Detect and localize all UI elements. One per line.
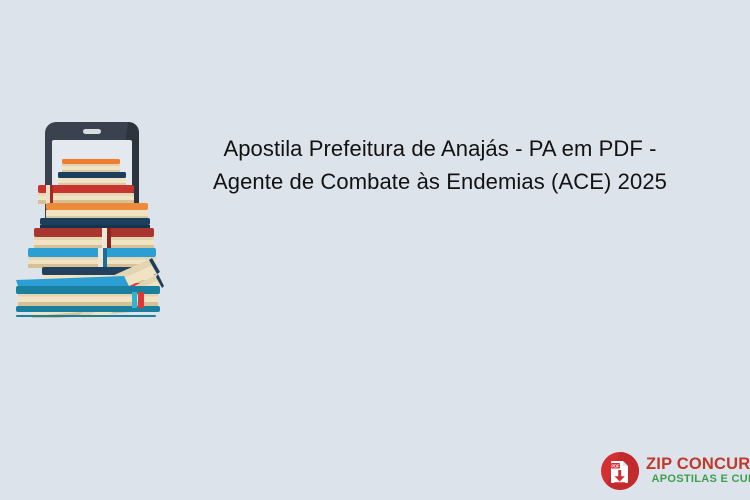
bottom-base-books — [12, 258, 172, 318]
book-navy-2 — [58, 172, 126, 186]
page-title: Apostila Prefeitura de Anajás - PA em PD… — [182, 132, 698, 198]
brand-name: ZIP CONCURSOS — [646, 456, 750, 473]
book-orange-top — [62, 159, 120, 173]
book-darkred-6 — [34, 228, 154, 249]
promo-card: Apostila Prefeitura de Anajás - PA em PD… — [0, 0, 750, 500]
pdf-download-glyph: PDF — [601, 452, 639, 490]
brand-text-block: ZIP CONCURSOS APOSTILAS E CURSOS — [646, 456, 750, 486]
pdf-download-icon: PDF — [601, 452, 639, 490]
title-line-1: Apostila Prefeitura de Anajás - PA em PD… — [182, 132, 698, 165]
svg-text:PDF: PDF — [611, 463, 620, 468]
brand-tagline: APOSTILAS E CURSOS — [646, 473, 750, 486]
book-orange-4 — [46, 203, 148, 219]
brand-logo[interactable]: PDF ZIP CONCURSOS APOSTILAS E CURSOS — [601, 449, 741, 493]
title-line-2: Agente de Combate às Endemias (ACE) 2025 — [182, 165, 698, 198]
book-red-3 — [38, 185, 134, 204]
